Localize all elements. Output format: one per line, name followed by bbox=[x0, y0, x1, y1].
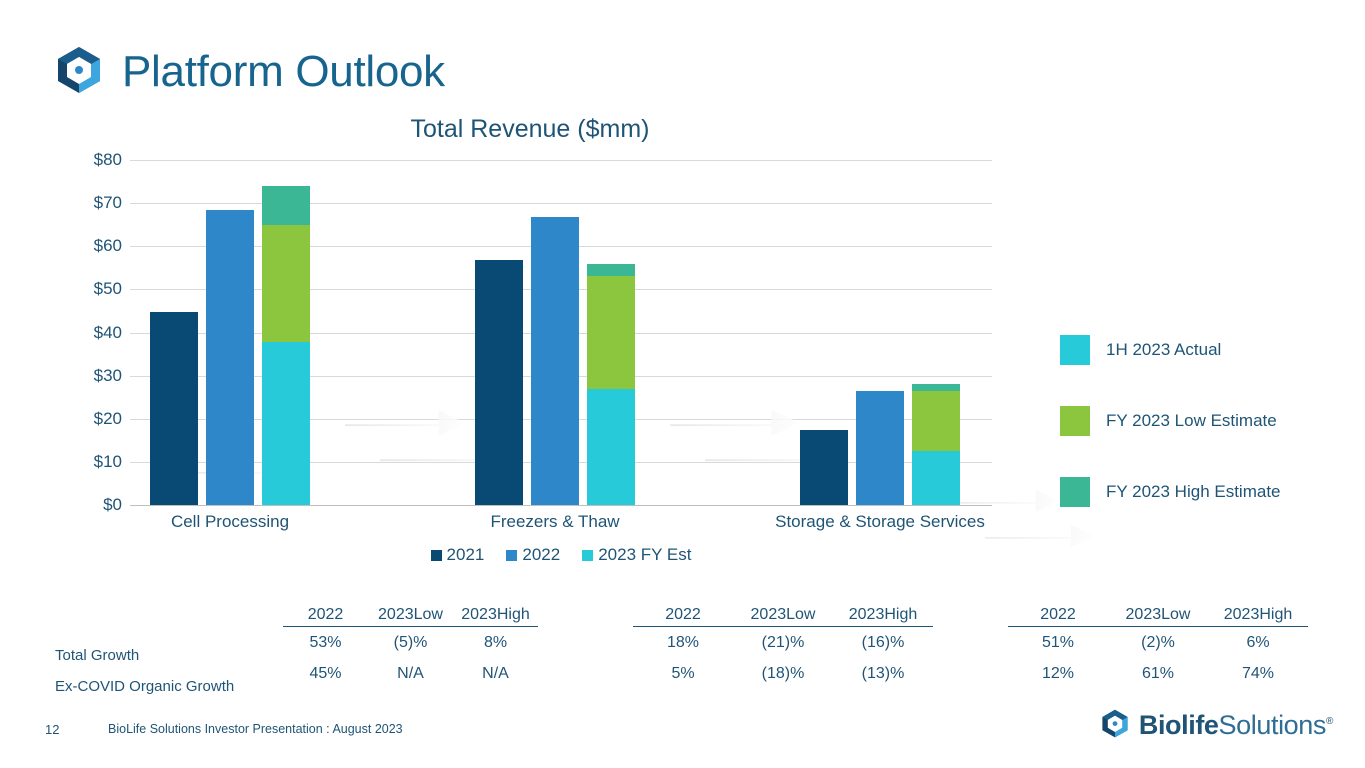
metrics-cell: (21)% bbox=[733, 627, 833, 658]
metric-row-label: Ex-COVID Organic Growth bbox=[55, 671, 234, 702]
brand-name-bold: Biolife bbox=[1139, 710, 1219, 740]
bar-2023-fy-est[interactable] bbox=[262, 186, 310, 505]
brand-name-light: Solutions bbox=[1219, 710, 1326, 740]
metrics-cell: N/A bbox=[368, 658, 453, 689]
bar-segment-2022 bbox=[531, 217, 579, 506]
y-axis-tick-label: $70 bbox=[62, 193, 122, 213]
metrics-row: 53%(5)%8% bbox=[283, 627, 538, 658]
metrics-column-header: 2023Low bbox=[368, 606, 453, 624]
legend-swatch-icon bbox=[431, 550, 442, 561]
bar-segment-fy-2023-low-estimate bbox=[912, 391, 960, 451]
bar-segment-1h-2023-actual bbox=[912, 451, 960, 505]
metrics-column-header: 2022 bbox=[633, 606, 733, 624]
side-legend: 1H 2023 ActualFY 2023 Low EstimateFY 202… bbox=[1060, 335, 1365, 548]
metrics-column-header: 2022 bbox=[283, 606, 368, 624]
metrics-cell: (5)% bbox=[368, 627, 453, 658]
chart-title: Total Revenue ($mm) bbox=[0, 115, 1060, 144]
metrics-row: 5%(18)%(13)% bbox=[633, 658, 933, 689]
bar-group bbox=[475, 160, 635, 505]
bar-segment-2021 bbox=[150, 312, 198, 505]
bar-2021[interactable] bbox=[800, 430, 848, 505]
gridline bbox=[130, 505, 992, 506]
side-legend-label: 1H 2023 Actual bbox=[1106, 340, 1221, 360]
metrics-header-row: 20222023Low2023High bbox=[1008, 606, 1308, 627]
metrics-row: 18%(21)%(16)% bbox=[633, 627, 933, 658]
legend-swatch-icon bbox=[582, 550, 593, 561]
bar-2021[interactable] bbox=[475, 260, 523, 505]
metrics-cell: 18% bbox=[633, 627, 733, 658]
metrics-cell: (16)% bbox=[833, 627, 933, 658]
metrics-cell: 45% bbox=[283, 658, 368, 689]
metrics-cell: 74% bbox=[1208, 658, 1308, 689]
metrics-header-row: 20222023Low2023High bbox=[633, 606, 933, 627]
biolife-cube-icon bbox=[54, 44, 104, 99]
metrics-cell: 53% bbox=[283, 627, 368, 658]
metric-row-labels: Total GrowthEx-COVID Organic Growth bbox=[55, 640, 234, 702]
side-legend-label: FY 2023 Low Estimate bbox=[1106, 411, 1277, 431]
y-axis-tick-label: $80 bbox=[62, 150, 122, 170]
metrics-cell: 51% bbox=[1008, 627, 1108, 658]
metrics-cell: 8% bbox=[453, 627, 538, 658]
metrics-column-header: 2023Low bbox=[1108, 606, 1208, 624]
bar-2022[interactable] bbox=[856, 391, 904, 505]
metrics-cell: 5% bbox=[633, 658, 733, 689]
bar-segment-2022 bbox=[856, 391, 904, 505]
y-axis-tick-label: $50 bbox=[62, 279, 122, 299]
bar-segment-1h-2023-actual bbox=[587, 389, 635, 505]
bottom-legend: 202120222023 FY Est bbox=[130, 545, 992, 565]
metrics-cell: 6% bbox=[1208, 627, 1308, 658]
registered-mark-icon: ® bbox=[1326, 716, 1333, 727]
metrics-tables: Total GrowthEx-COVID Organic Growth 2022… bbox=[0, 606, 1365, 696]
metrics-column-header: 2022 bbox=[1008, 606, 1108, 624]
y-axis-tick-label: $40 bbox=[62, 323, 122, 343]
metric-row-label: Total Growth bbox=[55, 640, 234, 671]
bar-segment-fy-2023-high-estimate bbox=[587, 264, 635, 277]
side-legend-item[interactable]: 1H 2023 Actual bbox=[1060, 335, 1365, 365]
y-axis-tick-label: $0 bbox=[62, 495, 122, 515]
side-legend-label: FY 2023 High Estimate bbox=[1106, 482, 1281, 502]
bar-segment-fy-2023-high-estimate bbox=[262, 186, 310, 225]
legend-label: 2022 bbox=[522, 545, 560, 565]
side-legend-item[interactable]: FY 2023 High Estimate bbox=[1060, 477, 1365, 507]
category-axis: Cell ProcessingFreezers & ThawStorage & … bbox=[130, 512, 992, 542]
metrics-column-header: 2023Low bbox=[733, 606, 833, 624]
legend-swatch-icon bbox=[1060, 335, 1090, 365]
legend-item[interactable]: 2021 bbox=[431, 545, 485, 565]
watermark-arrow bbox=[670, 410, 800, 436]
metrics-column-header: 2023High bbox=[833, 606, 933, 624]
slide-header: Platform Outlook bbox=[54, 44, 445, 99]
brand-wordmark: BiolifeSolutions® bbox=[1139, 710, 1333, 741]
y-axis-tick-label: $60 bbox=[62, 236, 122, 256]
chart-region: Total Revenue ($mm) $80$70$60$50$40$30$2… bbox=[0, 115, 1365, 585]
metrics-group: 20222023Low2023High51%(2)%6%12%61%74% bbox=[1008, 606, 1308, 689]
bar-segment-2022 bbox=[206, 210, 254, 505]
bar-segment-fy-2023-low-estimate bbox=[587, 276, 635, 389]
biolife-cube-icon-small bbox=[1100, 708, 1130, 743]
y-axis-tick-label: $10 bbox=[62, 452, 122, 472]
metrics-header-row: 20222023Low2023High bbox=[283, 606, 538, 627]
bar-segment-fy-2023-low-estimate bbox=[262, 225, 310, 343]
bar-2023-fy-est[interactable] bbox=[912, 384, 960, 505]
metrics-cell: 61% bbox=[1108, 658, 1208, 689]
y-axis-tick-label: $30 bbox=[62, 366, 122, 386]
category-label: Cell Processing bbox=[171, 512, 289, 532]
page-title: Platform Outlook bbox=[122, 50, 445, 94]
category-label: Freezers & Thaw bbox=[490, 512, 619, 532]
legend-swatch-icon bbox=[506, 550, 517, 561]
footer-text: BioLife Solutions Investor Presentation … bbox=[108, 722, 403, 736]
watermark-arrow bbox=[345, 410, 465, 436]
plot-wrapper: $80$70$60$50$40$30$20$10$0 Cell Processi… bbox=[0, 160, 1060, 560]
metrics-row: 45%N/AN/A bbox=[283, 658, 538, 689]
brand-logo: BiolifeSolutions® bbox=[1100, 708, 1333, 743]
metrics-cell: (2)% bbox=[1108, 627, 1208, 658]
legend-label: 2023 FY Est bbox=[598, 545, 691, 565]
legend-label: 2021 bbox=[447, 545, 485, 565]
legend-swatch-icon bbox=[1060, 477, 1090, 507]
bar-segment-fy-2023-high-estimate bbox=[912, 384, 960, 391]
bar-2022[interactable] bbox=[206, 210, 254, 505]
legend-swatch-icon bbox=[1060, 406, 1090, 436]
metrics-cell: 12% bbox=[1008, 658, 1108, 689]
page-number: 12 bbox=[45, 722, 59, 737]
metrics-cell: (13)% bbox=[833, 658, 933, 689]
metrics-column-header: 2023High bbox=[1208, 606, 1308, 624]
y-axis-tick-label: $20 bbox=[62, 409, 122, 429]
legend-item[interactable]: 2023 FY Est bbox=[582, 545, 691, 565]
bar-2022[interactable] bbox=[531, 217, 579, 506]
bar-segment-1h-2023-actual bbox=[262, 342, 310, 505]
bar-segment-2021 bbox=[800, 430, 848, 505]
metrics-row: 51%(2)%6% bbox=[1008, 627, 1308, 658]
bar-segment-2021 bbox=[475, 260, 523, 505]
bar-2021[interactable] bbox=[150, 312, 198, 505]
watermark-arrow bbox=[950, 490, 1060, 512]
metrics-row: 12%61%74% bbox=[1008, 658, 1308, 689]
bar-2023-fy-est[interactable] bbox=[587, 264, 635, 505]
legend-item[interactable]: 2022 bbox=[506, 545, 560, 565]
metrics-cell: N/A bbox=[453, 658, 538, 689]
metrics-cell: (18)% bbox=[733, 658, 833, 689]
category-label: Storage & Storage Services bbox=[775, 512, 985, 532]
metrics-group: 20222023Low2023High53%(5)%8%45%N/AN/A bbox=[283, 606, 538, 689]
y-axis: $80$70$60$50$40$30$20$10$0 bbox=[62, 160, 122, 505]
metrics-group: 20222023Low2023High18%(21)%(16)%5%(18)%(… bbox=[633, 606, 933, 689]
metrics-column-header: 2023High bbox=[453, 606, 538, 624]
bar-group bbox=[150, 160, 310, 505]
side-legend-item[interactable]: FY 2023 Low Estimate bbox=[1060, 406, 1365, 436]
plot-area bbox=[130, 160, 992, 505]
bar-group bbox=[800, 160, 960, 505]
